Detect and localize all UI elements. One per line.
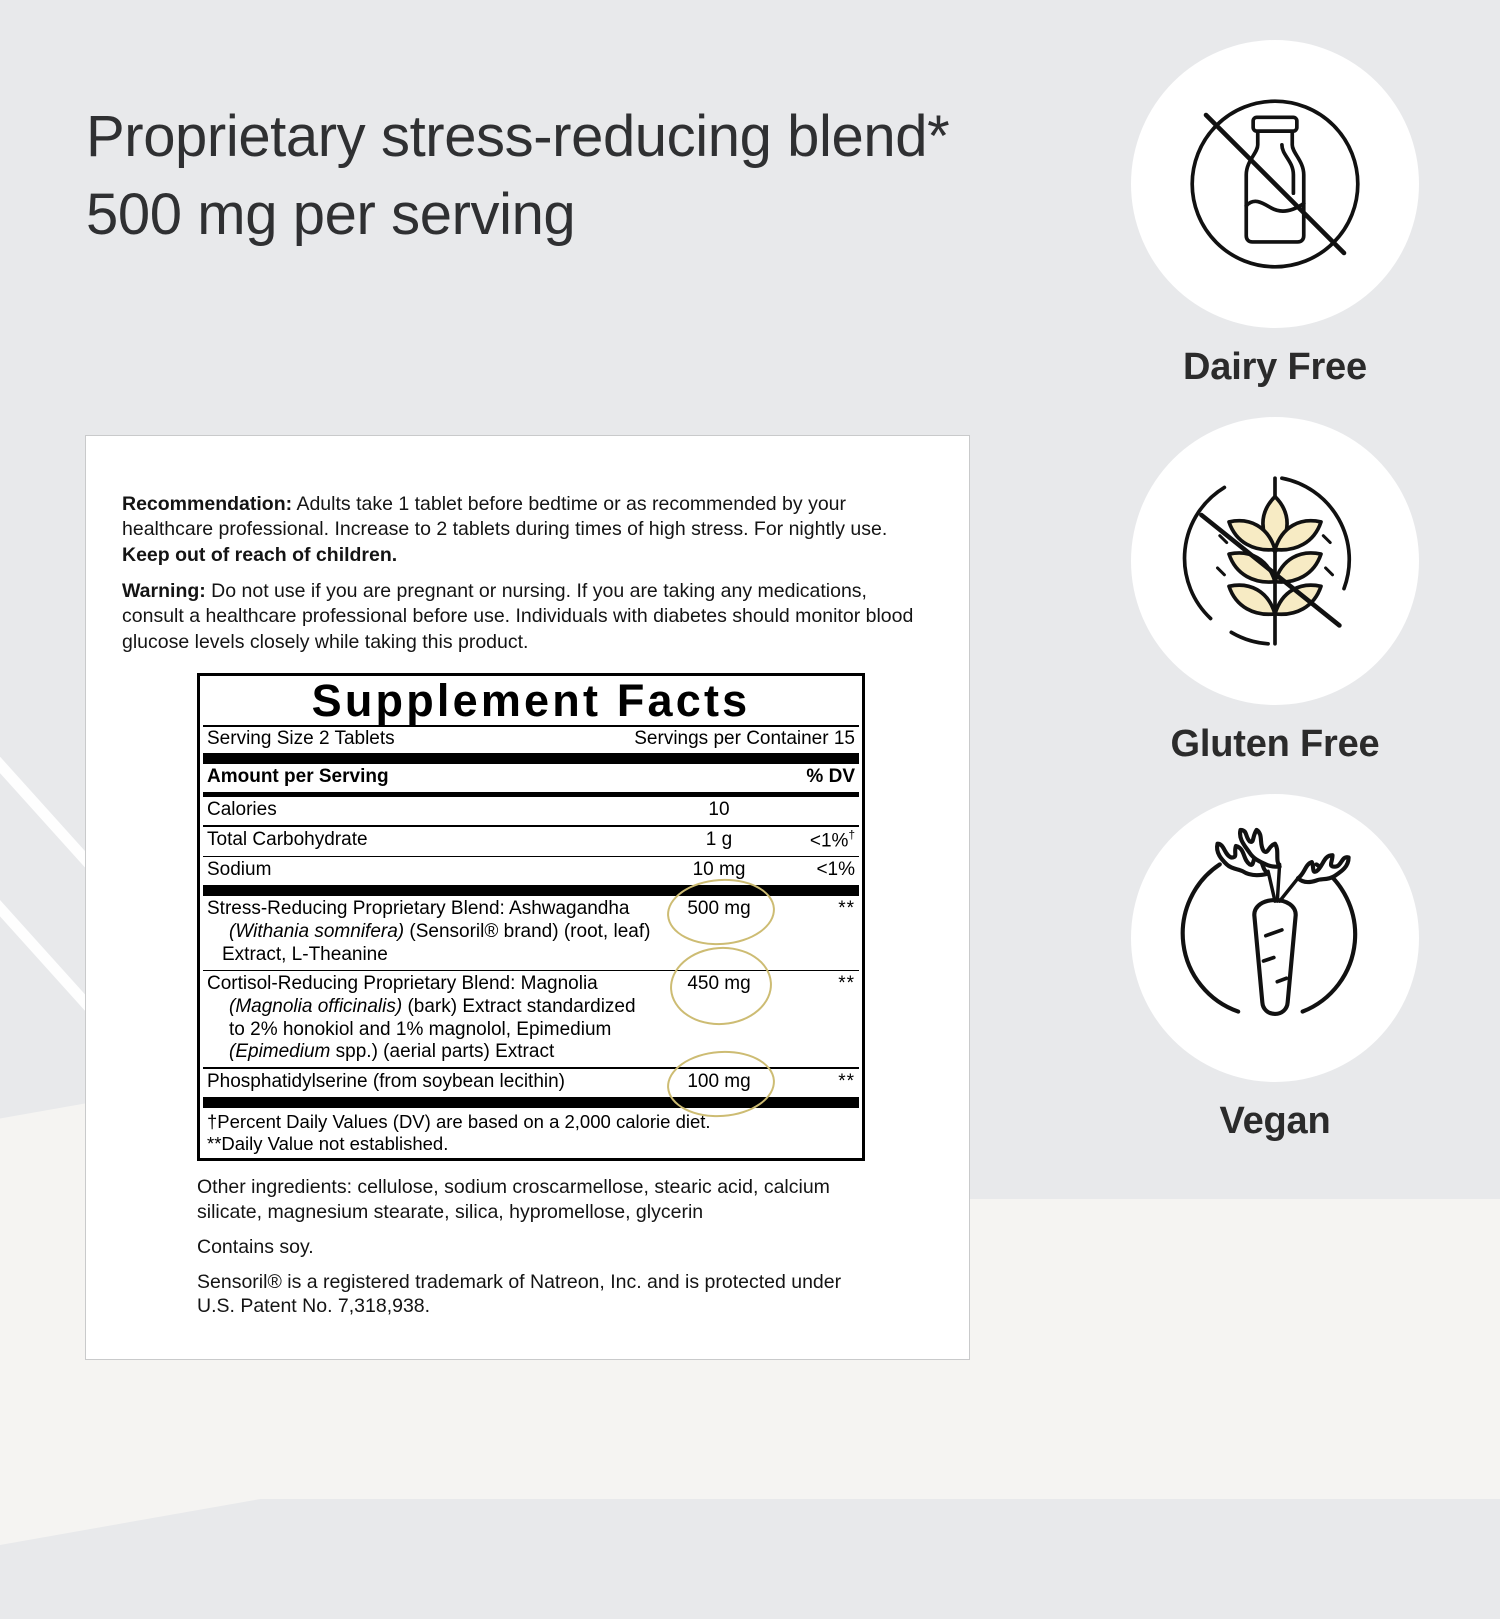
supplement-label-panel: Recommendation: Adults take 1 tablet bef… bbox=[85, 435, 970, 1360]
certification-badges: Dairy Free bbox=[1075, 40, 1475, 1171]
badge-vegan: Vegan bbox=[1075, 794, 1475, 1143]
warning-text: Do not use if you are pregnant or nursin… bbox=[122, 580, 913, 653]
blend-name: Cortisol-Reducing Proprietary Blend: Mag… bbox=[207, 973, 659, 1064]
table-footnotes: †Percent Daily Values (DV) are based on … bbox=[200, 1108, 862, 1159]
warning-paragraph: Warning: Do not use if you are pregnant … bbox=[122, 579, 934, 655]
nutrient-amount: 10 bbox=[659, 799, 779, 822]
recommendation-label: Recommendation: bbox=[122, 493, 292, 515]
nutrient-name: Total Carbohydrate bbox=[207, 829, 659, 852]
badge-circle-background bbox=[1131, 794, 1419, 1082]
dagger-symbol: † bbox=[848, 829, 855, 842]
blend-name: Phosphatidylserine (from soybean lecithi… bbox=[207, 1071, 659, 1094]
no-dairy-bottle-icon bbox=[1160, 69, 1390, 299]
other-ingredients-block: Other ingredients: cellulose, sodium cro… bbox=[197, 1175, 877, 1319]
table-row: Stress-Reducing Proprietary Blend: Ashwa… bbox=[200, 896, 862, 969]
footnote-not-established: **Daily Value not established. bbox=[207, 1133, 855, 1155]
keep-out-of-reach-text: Keep out of reach of children. bbox=[122, 544, 397, 566]
blend-dv: ** bbox=[779, 898, 855, 921]
table-row: Phosphatidylserine (from soybean lecithi… bbox=[200, 1069, 862, 1097]
supplement-facts-table: Supplement Facts Serving Size 2 Tablets … bbox=[197, 673, 865, 1161]
contains-soy-text: Contains soy. bbox=[197, 1235, 877, 1260]
footnote-daily-values: †Percent Daily Values (DV) are based on … bbox=[207, 1111, 855, 1133]
nutrient-amount: 10 mg bbox=[659, 859, 779, 882]
serving-info-row: Serving Size 2 Tablets Servings per Cont… bbox=[200, 727, 862, 753]
vegan-carrot-icon bbox=[1160, 823, 1390, 1053]
blend-amount: 500 mg bbox=[659, 898, 779, 921]
amount-per-serving-label: Amount per Serving bbox=[207, 766, 659, 789]
nutrient-name: Sodium bbox=[207, 859, 659, 882]
badge-dairy-free: Dairy Free bbox=[1075, 40, 1475, 389]
table-row: Total Carbohydrate 1 g <1%† bbox=[200, 827, 862, 856]
badge-gluten-free: Gluten Free bbox=[1075, 417, 1475, 766]
blend-amount: 100 mg bbox=[659, 1071, 779, 1094]
recommendation-paragraph: Recommendation: Adults take 1 tablet bef… bbox=[122, 492, 934, 568]
amount-per-serving-header-row: Amount per Serving % DV bbox=[200, 764, 862, 792]
supplement-facts-title: Supplement Facts bbox=[200, 676, 862, 725]
warning-label: Warning: bbox=[122, 580, 206, 602]
trademark-notice-text: Sensoril® is a registered trademark of N… bbox=[197, 1270, 877, 1320]
highlight-circle-100mg: 100 mg bbox=[687, 1071, 750, 1094]
highlight-circle-500mg: 500 mg bbox=[687, 898, 750, 921]
no-gluten-wheat-icon bbox=[1160, 446, 1390, 676]
blend-dv: ** bbox=[779, 1071, 855, 1094]
percent-dv-label: % DV bbox=[779, 766, 855, 789]
badge-label: Vegan bbox=[1075, 1100, 1475, 1143]
highlight-circle-450mg: 450 mg bbox=[687, 973, 750, 996]
page-headline: Proprietary stress-reducing blend* 500 m… bbox=[86, 98, 1046, 253]
blend-amount: 450 mg bbox=[659, 973, 779, 996]
nutrient-dv: <1%† bbox=[779, 829, 855, 853]
table-row: Calories 10 bbox=[200, 797, 862, 825]
nutrient-name: Calories bbox=[207, 799, 659, 822]
blend-name: Stress-Reducing Proprietary Blend: Ashwa… bbox=[207, 898, 659, 966]
nutrient-amount: 1 g bbox=[659, 829, 779, 852]
badge-label: Gluten Free bbox=[1075, 723, 1475, 766]
serving-size: Serving Size 2 Tablets bbox=[207, 728, 395, 750]
servings-per-container: Servings per Container 15 bbox=[634, 728, 855, 750]
table-row: Cortisol-Reducing Proprietary Blend: Mag… bbox=[200, 971, 862, 1067]
badge-circle-background bbox=[1131, 40, 1419, 328]
badge-label: Dairy Free bbox=[1075, 346, 1475, 389]
badge-circle-background bbox=[1131, 417, 1419, 705]
nutrient-dv: <1% bbox=[779, 859, 855, 882]
table-row: Sodium 10 mg <1% bbox=[200, 857, 862, 885]
other-ingredients-text: Other ingredients: cellulose, sodium cro… bbox=[197, 1175, 877, 1225]
blend-dv: ** bbox=[779, 973, 855, 996]
